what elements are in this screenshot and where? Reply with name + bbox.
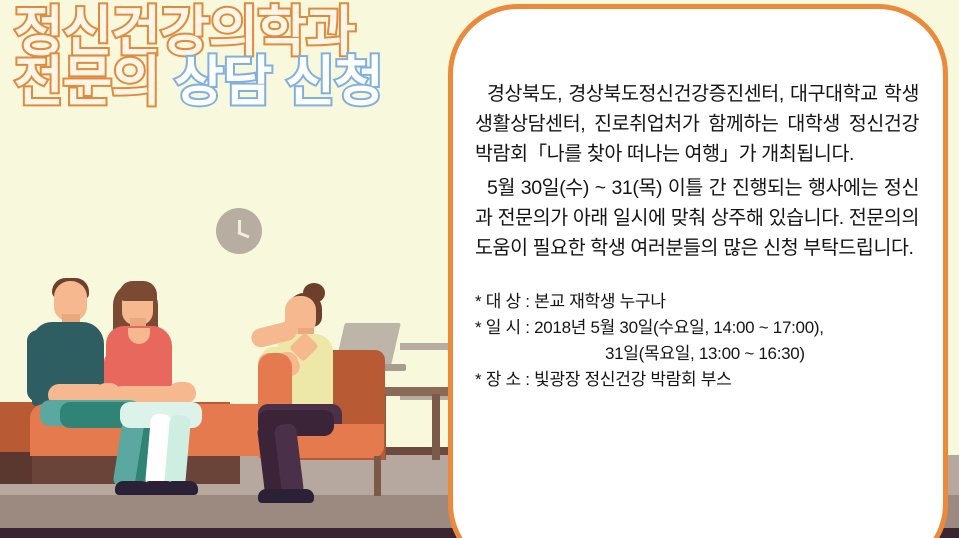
clock-minute-hand [238, 231, 250, 238]
detail-target: * 대 상 : 본교 재학생 누구나 [475, 289, 919, 315]
detail-location: * 장 소 : 빛광장 정신건강 박람회 부스 [475, 367, 919, 393]
desk-leg [432, 394, 440, 460]
event-details-list: * 대 상 : 본교 재학생 누구나 * 일 시 : 2018년 5월 30일(… [475, 289, 919, 393]
couch-base-shadow [0, 452, 32, 484]
schedule-paragraph: 5월 30일(수) ~ 31(목) 이틀 간 진행되는 행사에는 정신과 전문의… [475, 173, 919, 263]
title-segment-orange: 전문의 [14, 52, 160, 112]
woman-hand [168, 382, 196, 404]
woman-hair-front [119, 281, 157, 301]
armchair-leg [374, 456, 381, 496]
info-card-content: 경상북도, 경상북도정신건강증진센터, 대구대학교 학생생활상담센터, 진로취업… [475, 79, 919, 393]
intro-paragraph: 경상북도, 경상북도정신건강증진센터, 대구대학교 학생생활상담센터, 진로취업… [475, 79, 919, 169]
poster-root: 정신건강의학과 전문의 상담 신청 경상북도, 경상북도정신건강증진센터, 대구… [0, 0, 959, 538]
info-card: 경상북도, 경상북도정신건강증진센터, 대구대학교 학생생활상담센터, 진로취업… [448, 4, 948, 538]
woman-shoe [165, 481, 198, 495]
title-line-2: 전문의 상담 신청 [14, 54, 383, 110]
title-segment-blue: 상담 신청 [174, 52, 383, 112]
detail-datetime-second: 31일(목요일, 13:00 ~ 16:30) [475, 341, 919, 367]
therapist-shoe [280, 489, 314, 503]
poster-title: 정신건강의학과 전문의 상담 신청 [14, 4, 383, 110]
man-upper-arm [27, 330, 49, 402]
detail-datetime: * 일 시 : 2018년 5월 30일(수요일, 14:00 ~ 17:00)… [475, 315, 919, 341]
wall-clock-icon [216, 208, 262, 254]
